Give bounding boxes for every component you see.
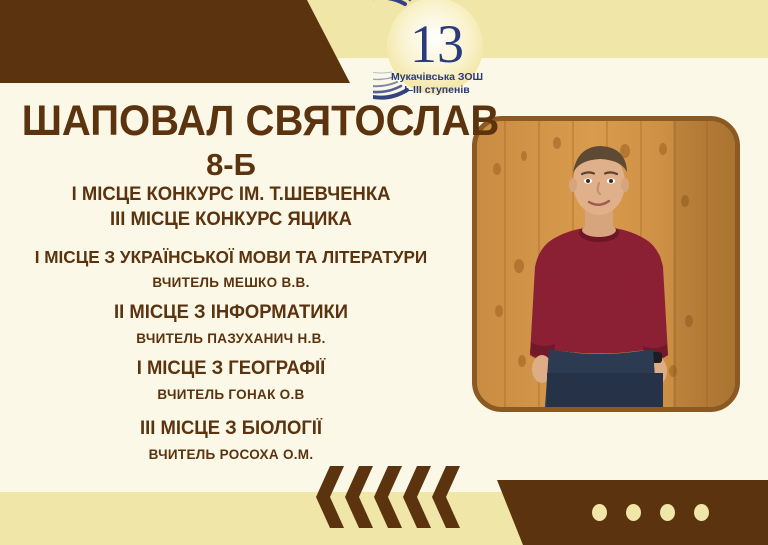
logo-number: 13 <box>410 14 464 74</box>
poster-canvas: 13 Мукачівська ЗОШ I–III ступенів <box>0 0 768 545</box>
achievement-title-5: III МІСЦЕ З БІОЛОГІЇ <box>7 416 455 441</box>
dots-decor <box>592 479 712 545</box>
student-name: ШАПОВАЛ СВЯТОСЛАВ <box>16 96 446 146</box>
chevron-icon <box>345 466 373 528</box>
achievement-title-1: III МІСЦЕ КОНКУРС ЯЦИКА <box>7 207 455 232</box>
chevron-arrows-decor <box>316 466 461 528</box>
dot-icon <box>626 504 641 521</box>
achievement-teacher-2: ВЧИТЕЛЬ МЕШКО В.В. <box>0 269 462 293</box>
achievement-teacher-3: ВЧИТЕЛЬ ПАЗУХАНИЧ Н.В. <box>0 325 462 349</box>
school-logo: 13 Мукачівська ЗОШ I–III ступенів <box>373 0 498 104</box>
achievement-title-3: II МІСЦЕ З ІНФОРМАТИКИ <box>7 300 455 325</box>
dot-icon <box>660 504 675 521</box>
logo-line2: I–III ступенів <box>404 84 470 96</box>
achievement-text-block: ШАПОВАЛ СВЯТОСЛАВ 8-Б I МІСЦЕ КОНКУРС ІМ… <box>0 96 462 465</box>
chevron-icon <box>403 466 431 528</box>
chevron-icon <box>316 466 344 528</box>
top-left-brown-shape <box>0 0 350 83</box>
dot-icon <box>592 504 607 521</box>
chevron-icon <box>374 466 402 528</box>
achievement-title-0: I МІСЦЕ КОНКУРС ІМ. Т.ШЕВЧЕНКА <box>7 182 455 207</box>
logo-line1: Мукачівська ЗОШ <box>391 71 483 83</box>
achievement-title-2: I МІСЦЕ З УКРАЇНСЬКОЇ МОВИ ТА ЛІТЕРАТУРИ <box>5 238 458 269</box>
student-photo <box>472 116 740 412</box>
achievement-teacher-4: ВЧИТЕЛЬ ГОНАК О.В <box>0 381 462 405</box>
achievement-title-4: I МІСЦЕ З ГЕОГРАФІЇ <box>7 356 455 381</box>
dot-icon <box>694 504 709 521</box>
student-grade: 8-Б <box>0 146 462 182</box>
chevron-icon <box>432 466 460 528</box>
achievement-teacher-5: ВЧИТЕЛЬ РОСОХА О.М. <box>0 441 462 465</box>
